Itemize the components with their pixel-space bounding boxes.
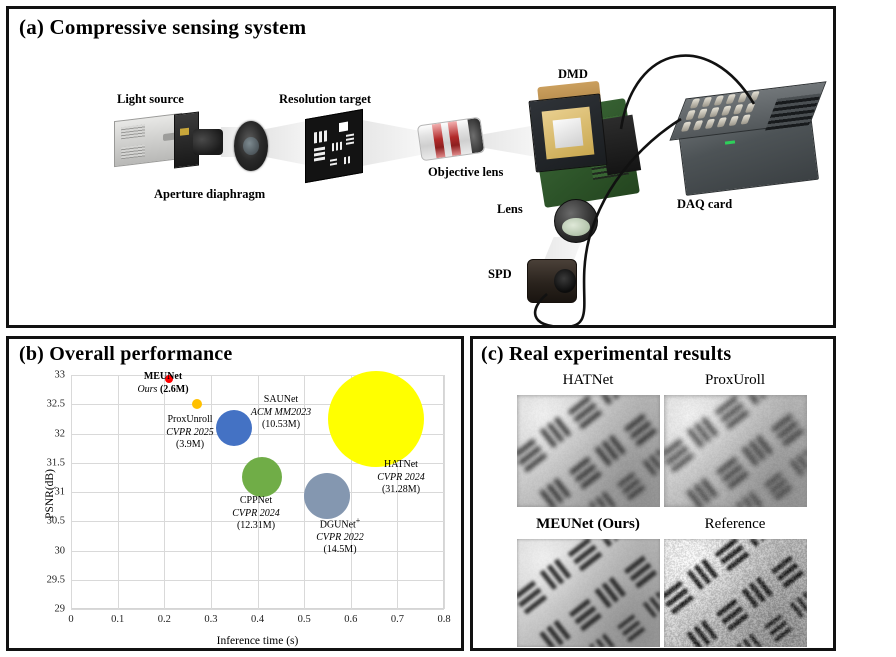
- x-tick-label: 0.7: [391, 614, 404, 625]
- y-tick-label: 32.5: [47, 399, 65, 410]
- figure-root: (a) Compressive sensing system Light sou…: [0, 0, 896, 657]
- x-tick-label: 0.1: [111, 614, 124, 625]
- annotation-cppnet: CPPNet CVPR 2024 (12.31M): [232, 495, 280, 533]
- panel-b-title: (b) Overall performance: [19, 343, 232, 366]
- result-image-hatnet: [517, 395, 660, 507]
- label-objective-lens: Objective lens: [428, 165, 503, 180]
- x-tick-label: 0.6: [344, 614, 357, 625]
- gridline-vertical: [444, 375, 445, 609]
- label-result-proxuroll: ProxUroll: [705, 372, 765, 389]
- label-lens: Lens: [497, 202, 523, 217]
- result-image-meunet: [517, 539, 660, 647]
- bubble-cppnet: [242, 457, 282, 497]
- x-tick-label: 0.2: [158, 614, 171, 625]
- dmd-chip: [528, 93, 607, 172]
- y-tick-label: 31: [55, 487, 66, 498]
- resolution-target-patch: [517, 395, 660, 507]
- result-image-proxuroll: [664, 395, 807, 507]
- resolution-target: [305, 109, 363, 183]
- annotation-meunet-venue-params: Ours (2.6M): [137, 384, 188, 397]
- chart-x-axis-label: Inference time (s): [71, 635, 444, 647]
- gridline-vertical: [118, 375, 119, 609]
- scatter-plot: 3332.53231.53130.53029.529 00.10.20.30.4…: [71, 375, 444, 609]
- bubble-hatnet: [328, 371, 424, 467]
- result-image-reference: [664, 539, 807, 647]
- label-daq-card: DAQ card: [677, 197, 732, 212]
- beam-target-to-objective: [357, 119, 423, 167]
- light-source-body: [114, 113, 182, 167]
- resolution-target-patch: [517, 539, 660, 647]
- light-source-output-nozzle: [193, 129, 223, 155]
- x-tick-label: 0.8: [437, 614, 450, 625]
- x-tick-label: 0: [68, 614, 73, 625]
- annotation-proxunroll: ProxUnroll CVPR 2025 (3.9M): [166, 414, 214, 452]
- y-tick-label: 33: [55, 370, 66, 381]
- annotation-dgunet: DGUNet+ CVPR 2022 (14.5M): [316, 515, 364, 557]
- panel-a-title: (a) Compressive sensing system: [19, 15, 306, 40]
- annotation-meunet: MEUNet Ours (2.6M): [137, 371, 188, 396]
- objective-lens: [417, 117, 485, 162]
- spd-detector: [527, 259, 577, 303]
- panel-c-title: (c) Real experimental results: [481, 343, 731, 366]
- gridline-horizontal: [71, 609, 444, 610]
- bubble-proxunroll: [192, 399, 202, 409]
- x-tick-label: 0.4: [251, 614, 264, 625]
- resolution-target-patch: [664, 395, 807, 507]
- panel-overall-performance: (b) Overall performance PSNR(dB) Inferen…: [6, 336, 464, 651]
- annotation-saunet: SAUNet ACM MM2023 (10.53M): [251, 394, 311, 432]
- panel-real-experimental-results: (c) Real experimental results HATNet Pro…: [470, 336, 836, 651]
- panel-compressive-sensing-system: (a) Compressive sensing system Light sou…: [6, 6, 836, 328]
- lens: [554, 199, 598, 243]
- annotation-dgunet-name: DGUNet+: [316, 515, 364, 532]
- gridline-vertical: [164, 375, 165, 609]
- label-dmd: DMD: [558, 67, 588, 82]
- y-tick-label: 30.5: [47, 516, 65, 527]
- gridline-vertical: [71, 375, 72, 609]
- y-tick-label: 29.5: [47, 574, 65, 585]
- x-tick-label: 0.5: [298, 614, 311, 625]
- annotation-hatnet: HATNet CVPR 2024 (31.28M): [377, 459, 425, 497]
- y-tick-label: 29: [55, 604, 66, 615]
- gridline-vertical: [211, 375, 212, 609]
- aperture-diaphragm: [234, 121, 268, 171]
- label-result-meunet: MEUNet (Ours): [536, 516, 640, 533]
- y-tick-label: 30: [55, 545, 66, 556]
- label-result-reference: Reference: [705, 516, 766, 533]
- label-spd: SPD: [488, 267, 512, 282]
- y-tick-label: 32: [55, 428, 66, 439]
- bubble-dgunet: [304, 473, 350, 519]
- label-result-hatnet: HATNet: [563, 372, 614, 389]
- label-resolution-target: Resolution target: [279, 92, 371, 107]
- y-tick-label: 31.5: [47, 457, 65, 468]
- resolution-target-patch: [664, 539, 807, 647]
- label-aperture-diaphragm: Aperture diaphragm: [154, 187, 265, 202]
- bubble-saunet: [216, 410, 252, 446]
- label-light-source: Light source: [117, 92, 184, 107]
- x-tick-label: 0.3: [204, 614, 217, 625]
